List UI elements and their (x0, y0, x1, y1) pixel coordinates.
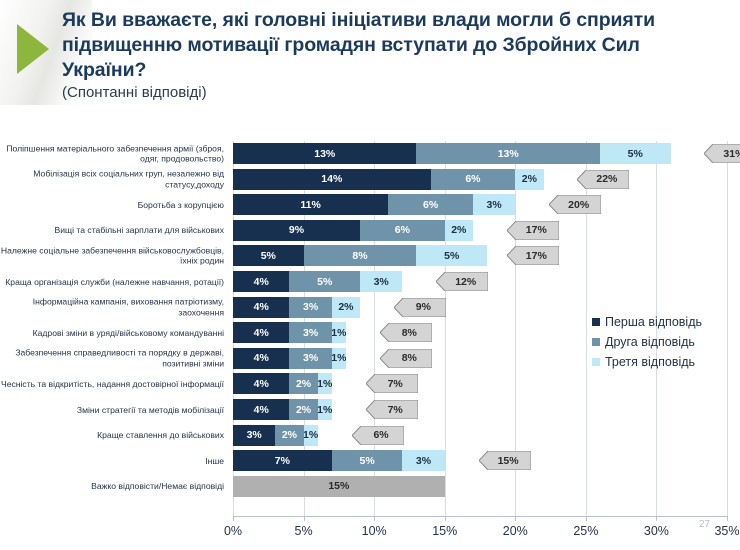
bar-segment-series-2: 3% (289, 297, 331, 318)
bar-segment-series-2: 5% (289, 271, 360, 292)
axis-tick-label: 0% (224, 524, 242, 538)
total-callout-label: 6% (352, 426, 404, 445)
total-callout: 17% (507, 246, 559, 265)
bar-segment-series-3: 3% (360, 271, 402, 292)
bar-segment-series-2: 6% (431, 169, 516, 190)
bar-segment-series-2: 5% (332, 450, 403, 471)
total-callout-label: 7% (366, 374, 418, 393)
chart-legend: Перша відповідьДруга відповідьТретя відп… (592, 312, 702, 372)
legend-label: Третя відповідь (605, 355, 695, 369)
bar-segment-series-2: 2% (289, 373, 317, 394)
total-callout: 6% (352, 426, 404, 445)
total-callout: 9% (394, 298, 446, 317)
bar-segment-series-3: 1% (318, 373, 332, 394)
total-callout: 31% (704, 144, 740, 163)
category-label: Кадрові зміни в уряді/військовому команд… (0, 327, 224, 338)
bar-row: 15% (233, 476, 727, 497)
total-callout: 7% (366, 400, 418, 419)
axis-tick (727, 516, 728, 521)
category-label: Інформаційна кампанія, виховання патріот… (0, 297, 224, 318)
total-callout-label: 15% (479, 451, 531, 470)
total-callout-label: 7% (366, 400, 418, 419)
axis-tick-label: 5% (295, 524, 313, 538)
axis-tick-label: 20% (503, 524, 528, 538)
bar-segment-series-3: 1% (332, 322, 346, 343)
slide-root: Як Ви вважаєте, які головні ініціативи в… (0, 0, 740, 550)
total-callout-label: 8% (380, 323, 432, 342)
category-label: Належне соціальне забезпечення військово… (0, 245, 224, 266)
total-callout: 8% (380, 323, 432, 342)
bar-segment-series-1: 4% (233, 348, 289, 369)
bar-segment-series-1: 13% (233, 143, 416, 164)
bar-segment-series-3: 2% (445, 220, 473, 241)
total-callout: 8% (380, 349, 432, 368)
bar-segment-series-3: 3% (402, 450, 444, 471)
category-label: Важко відповісти/Немає відповіді (0, 481, 224, 492)
stacked-bar-chart: 0%5%10%15%20%25%30%35%Поліпшення матеріа… (0, 0, 740, 550)
axis-tick-label: 25% (573, 524, 598, 538)
total-callout-label: 17% (507, 221, 559, 240)
axis-tick-label: 35% (714, 524, 739, 538)
total-callout-label: 8% (380, 349, 432, 368)
total-callout-label: 17% (507, 246, 559, 265)
bar-row: 5%8%5% (233, 245, 727, 266)
category-label: Краще ставлення до військових (0, 430, 224, 441)
category-label: Мобілізація всіх соціальних груп, незале… (0, 169, 224, 190)
legend-item-3[interactable]: Третя відповідь (592, 352, 702, 372)
bar-segment-series-1: 7% (233, 450, 332, 471)
legend-label: Друга відповідь (605, 335, 695, 349)
bar-segment-series-2: 3% (289, 348, 331, 369)
bar-row: 13%13%5% (233, 143, 727, 164)
bar-row: 3%2%1% (233, 425, 727, 446)
bar-segment-series-2: 8% (304, 245, 417, 266)
bar-segment-series-1: 4% (233, 271, 289, 292)
axis-tick-label: 15% (432, 524, 457, 538)
bar-segment-series-2: 3% (289, 322, 331, 343)
bar-row: 11%6%3% (233, 194, 727, 215)
total-callout-label: 22% (577, 170, 629, 189)
total-callout-label: 31% (704, 144, 740, 163)
category-label: Інше (0, 455, 224, 466)
bar-segment-series-3: 5% (600, 143, 671, 164)
bar-segment-series-3: 1% (332, 348, 346, 369)
legend-item-2[interactable]: Друга відповідь (592, 332, 702, 352)
bar-segment-series-1: 11% (233, 194, 388, 215)
category-label: Вищі та стабільні зарплати для військови… (0, 225, 224, 236)
total-callout: 17% (507, 221, 559, 240)
category-label: Боротьба з корупцією (0, 199, 224, 210)
total-callout-label: 12% (436, 272, 488, 291)
bar-segment-series-1: 14% (233, 169, 431, 190)
total-callout: 22% (577, 170, 629, 189)
legend-item-1[interactable]: Перша відповідь (592, 312, 702, 332)
bar-row: 14%6%2% (233, 169, 727, 190)
legend-label: Перша відповідь (605, 315, 702, 329)
bar-segment-series-2: 6% (388, 194, 473, 215)
bar-segment-series-3: 2% (515, 169, 543, 190)
bar-segment-series-3: 5% (416, 245, 487, 266)
page-number: 27 (699, 519, 710, 530)
total-callout-label: 20% (549, 195, 601, 214)
category-label: Зміни стратегії та методів мобілізації (0, 404, 224, 415)
bar-segment-series-3: 1% (318, 399, 332, 420)
bar-segment-series-2: 6% (360, 220, 445, 241)
bar-segment-series-2: 2% (289, 399, 317, 420)
category-label: Забезпечення справедливості та порядку в… (0, 348, 224, 369)
total-callout: 7% (366, 374, 418, 393)
bar-segment-series-1: 3% (233, 425, 275, 446)
bar-segment-series-1: 4% (233, 322, 289, 343)
total-callout: 12% (436, 272, 488, 291)
axis-tick-label: 10% (362, 524, 387, 538)
x-axis-line (233, 516, 727, 517)
bar-row: 9%6%2% (233, 220, 727, 241)
category-label: Чесність та відкритість, надання достові… (0, 379, 224, 390)
total-callout: 15% (479, 451, 531, 470)
legend-swatch-icon (592, 318, 600, 326)
bar-segment-series-1: 4% (233, 297, 289, 318)
bar-row: 4%2%1% (233, 373, 727, 394)
bar-segment-series-2: 13% (416, 143, 599, 164)
bar-segment-series-1: 4% (233, 399, 289, 420)
gridline (727, 141, 728, 516)
bar-segment-series-2: 2% (275, 425, 303, 446)
bar-segment-series-3: 2% (332, 297, 360, 318)
axis-tick-label: 30% (644, 524, 669, 538)
bar-segment-series-1: 4% (233, 373, 289, 394)
bar-segment-series-1: 9% (233, 220, 360, 241)
category-label: Поліпшення матеріального забезпечення ар… (0, 143, 224, 164)
total-callout-label: 9% (394, 298, 446, 317)
bar-row: 4%2%1% (233, 399, 727, 420)
bar-segment-no-answer: 15% (233, 476, 445, 497)
legend-swatch-icon (592, 338, 600, 346)
category-label: Краща організація служби (належне навчан… (0, 276, 224, 287)
bar-segment-series-3: 1% (304, 425, 318, 446)
total-callout: 20% (549, 195, 601, 214)
bar-segment-series-3: 3% (473, 194, 515, 215)
legend-swatch-icon (592, 358, 600, 366)
bar-segment-series-1: 5% (233, 245, 304, 266)
